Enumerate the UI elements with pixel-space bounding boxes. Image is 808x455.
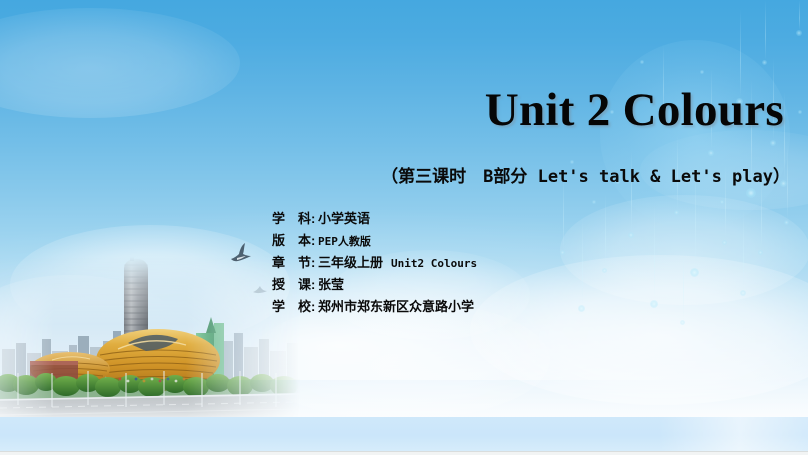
info-row-value: 小学英语 bbox=[318, 208, 370, 227]
info-row-value: PEP人教版 bbox=[318, 233, 371, 249]
info-row: 版 本:PEP人教版 bbox=[272, 230, 477, 252]
info-row-label: 授 课: bbox=[272, 274, 318, 293]
info-row-label: 版 本: bbox=[272, 230, 318, 249]
info-row-value: 郑州市郑东新区众意路小学 bbox=[318, 296, 474, 315]
info-row-value: 三年级上册Unit2 Colours bbox=[318, 252, 477, 271]
info-row-value: 张莹 bbox=[318, 274, 344, 293]
info-row-value-en: Unit2 Colours bbox=[391, 257, 477, 270]
info-row-label: 学 校: bbox=[272, 296, 318, 315]
info-row: 学 科:小学英语 bbox=[272, 208, 477, 230]
presentation-slide: Unit 2 Colours （第三课时 B部分 Let's talk & Le… bbox=[0, 0, 808, 455]
bottom-edge-strip bbox=[0, 451, 808, 455]
lesson-info-list: 学 科:小学英语版 本:PEP人教版章 节:三年级上册Unit2 Colours… bbox=[272, 208, 477, 318]
page-title: Unit 2 Colours bbox=[0, 86, 784, 135]
bottom-band-sheen bbox=[658, 417, 808, 451]
lesson-subtitle: （第三课时 B部分 Let's talk & Let's play） bbox=[0, 162, 790, 187]
info-row: 学 校:郑州市郑东新区众意路小学 bbox=[272, 296, 477, 318]
info-row: 授 课:张莹 bbox=[272, 274, 477, 296]
info-row-label: 学 科: bbox=[272, 208, 318, 227]
info-row-label: 章 节: bbox=[272, 252, 318, 271]
info-row: 章 节:三年级上册Unit2 Colours bbox=[272, 252, 477, 274]
